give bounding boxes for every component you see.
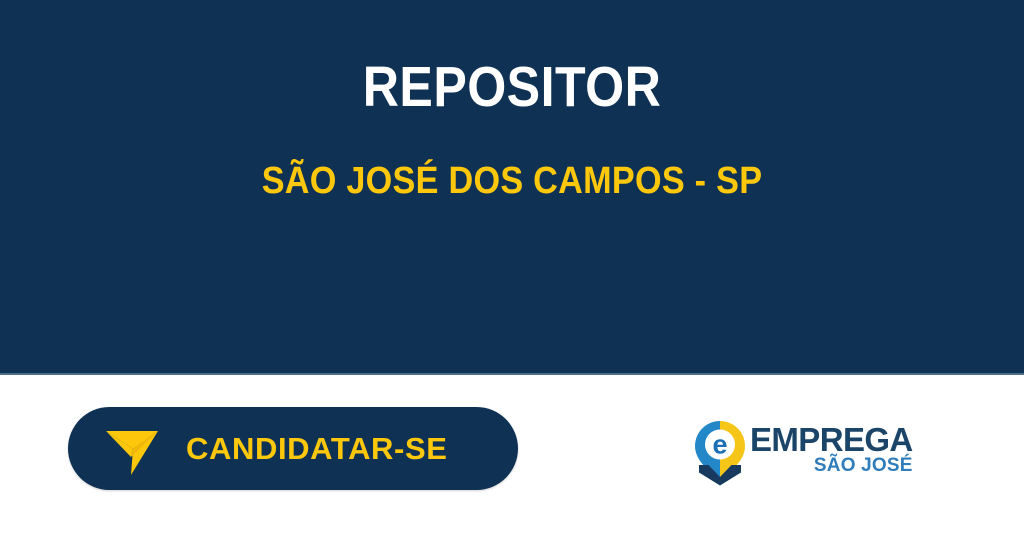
- brand-subtitle: São José: [814, 456, 913, 477]
- apply-button[interactable]: Candidatar-se: [68, 407, 518, 490]
- brand-logo[interactable]: e Emprega São José: [694, 420, 919, 492]
- svg-text:e: e: [712, 430, 727, 460]
- brand-name: Emprega: [750, 424, 913, 455]
- apply-button-label: Candidatar-se: [186, 431, 448, 467]
- page-title: REPOSITOR: [61, 58, 962, 118]
- brand-wordmark: Emprega São José: [750, 420, 913, 477]
- location-pin-e-icon: e: [694, 420, 746, 486]
- paper-plane-icon: [68, 417, 164, 481]
- job-location-subtitle: São José dos Campos - SP: [51, 161, 973, 203]
- job-hero-panel: REPOSITOR São José dos Campos - SP: [0, 0, 1024, 375]
- job-posting-card: { "hero": { "background_color": "#0E3154…: [0, 0, 1024, 538]
